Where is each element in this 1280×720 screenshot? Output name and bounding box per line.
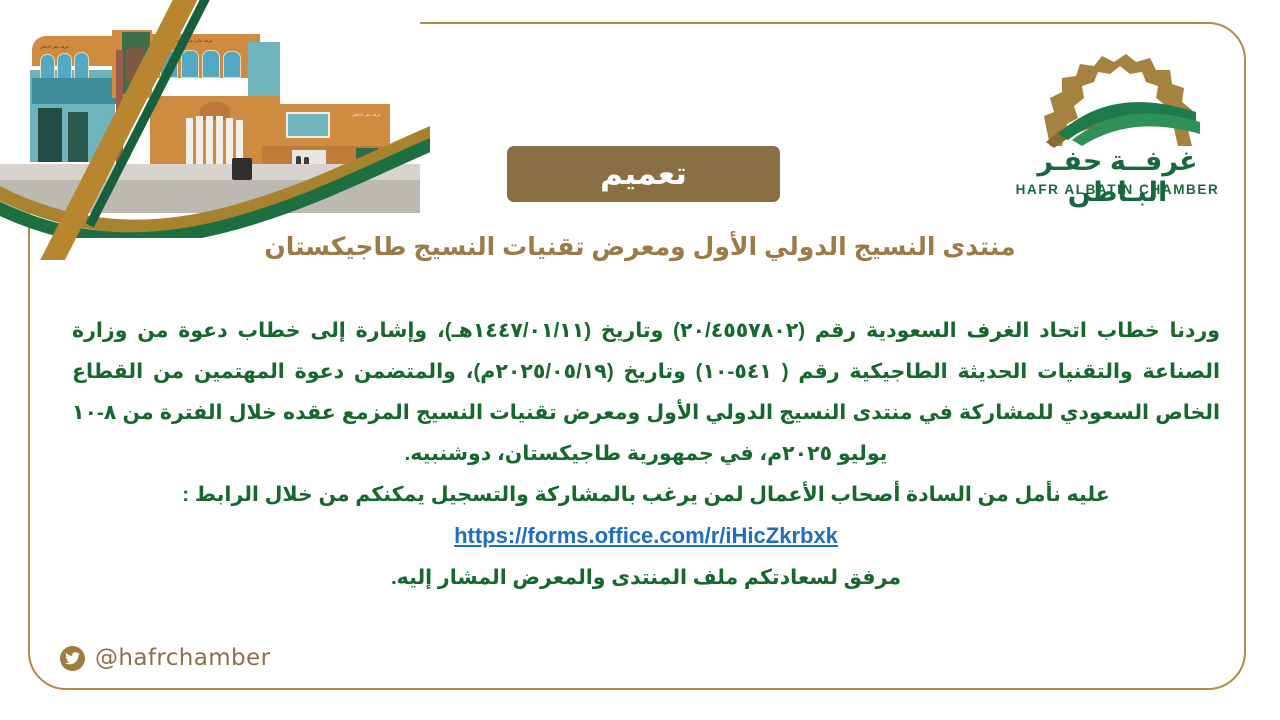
body-paragraph-2: عليه نأمل من السادة أصحاب الأعمال لمن ير…: [72, 474, 1220, 515]
twitter-bird-glyph: [65, 652, 80, 665]
body-content: وردنا خطاب اتحاد الغرف السعودية رقم (٢٠/…: [72, 310, 1220, 598]
diagonal-ribbons: [0, 0, 560, 260]
registration-link-line: https://forms.office.com/r/iHicZkrbxk: [72, 515, 1220, 557]
page-title: منتدى النسيج الدولي الأول ومعرض تقنيات ا…: [64, 232, 1216, 262]
circular-badge: تعميم: [507, 146, 780, 202]
logo-arabic-name: غرفــة حفـر البـاطن: [1010, 146, 1225, 208]
announcement-page: غرفة حفر الباطن غرفة تجارة وصناعة حفر ال…: [0, 0, 1280, 720]
body-paragraph-1: وردنا خطاب اتحاد الغرف السعودية رقم (٢٠/…: [72, 310, 1220, 474]
social-footer: @hafrchamber: [60, 645, 270, 671]
closing-line: مرفق لسعادتكم ملف المنتدى والمعرض المشار…: [72, 557, 1220, 598]
logo-english-name: HAFR ALBATIN CHAMBER: [1010, 182, 1225, 197]
twitter-icon[interactable]: [60, 646, 85, 671]
chamber-logo: غرفــة حفـر البـاطن HAFR ALBATIN CHAMBER: [1010, 42, 1225, 207]
chamber-gear-arch-mark: [1010, 42, 1225, 152]
twitter-handle[interactable]: @hafrchamber: [95, 645, 270, 671]
registration-link[interactable]: https://forms.office.com/r/iHicZkrbxk: [454, 515, 838, 556]
